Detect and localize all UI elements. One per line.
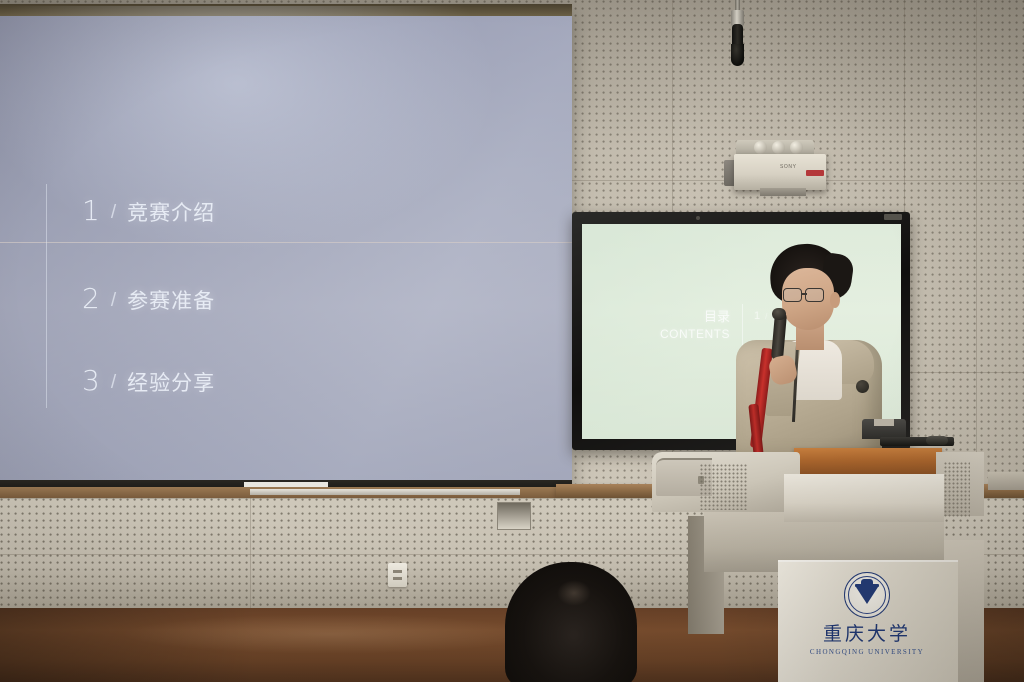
podium-speaker-grille xyxy=(700,464,748,510)
display-toc-cn: 目录 xyxy=(630,310,730,326)
jacket-sleeve-badge xyxy=(856,380,869,393)
audience-member-head xyxy=(505,562,637,682)
slide-toc-item: 1 / 竞赛介绍 xyxy=(82,194,215,227)
slide-item-label: 竞赛介绍 xyxy=(127,197,215,227)
wall-panel-seam xyxy=(976,0,977,498)
display-toc-en: CONTENTS xyxy=(630,326,730,342)
monitor-stand-notch xyxy=(874,419,894,426)
ceiling-microphone-icon xyxy=(726,0,748,68)
outlet-slot xyxy=(393,570,402,573)
university-name-en: CHONGQING UNIVERSITY xyxy=(802,648,932,656)
slide-item-number: 1 xyxy=(82,194,100,227)
slide-item-label: 参赛准备 xyxy=(127,285,215,315)
display-bezel-screw xyxy=(696,216,700,220)
slide-divider xyxy=(46,184,47,408)
slide-item-separator: / xyxy=(111,372,116,394)
projector-knob xyxy=(790,141,803,154)
slide-toc-item: 3 / 经验分享 xyxy=(82,364,215,397)
glasses-icon xyxy=(805,288,824,302)
display-top-clip xyxy=(884,214,902,220)
ledge-metal-trim xyxy=(250,489,520,495)
display-toc-heading: 目录 CONTENTS xyxy=(630,310,730,342)
emblem-triangle xyxy=(856,587,878,604)
slide-toc-heading: 录 S xyxy=(0,174,32,266)
ceiling-projector: SONY xyxy=(724,140,840,196)
outlet-slot xyxy=(393,577,402,580)
slide-toc-item: 2 / 参赛准备 xyxy=(82,282,215,315)
slide-item-separator: / xyxy=(111,202,116,224)
projector-knob xyxy=(772,141,785,154)
microphone-head xyxy=(772,308,786,320)
slide-item-number: 3 xyxy=(82,364,100,397)
podium-wood-top xyxy=(794,448,942,474)
ledge-end-post xyxy=(988,472,1024,490)
floor-reflection xyxy=(120,614,540,654)
projector-knob xyxy=(754,141,767,154)
projector-accent-stripe xyxy=(806,170,824,176)
slide-toc-cn-partial: 录 xyxy=(0,174,32,220)
slide-item-number: 2 xyxy=(82,282,100,315)
university-name-cn: 重庆大学 xyxy=(802,623,932,645)
mic-capsule xyxy=(731,44,744,66)
podium-front-face xyxy=(784,474,944,522)
slide-item-label: 经验分享 xyxy=(127,367,215,397)
slide-toc-en-partial: S xyxy=(0,220,32,266)
presenter-ear xyxy=(830,292,840,308)
lecture-hall-photo: SONY 录 S 1 / 竞赛介绍 2 / 参赛准备 3 xyxy=(0,0,1024,682)
university-emblem-icon xyxy=(844,572,890,618)
university-branding: 重庆大学 CHONGQING UNIVERSITY xyxy=(802,572,932,656)
projected-slide: 录 S 1 / 竞赛介绍 2 / 参赛准备 3 / 经验分享 xyxy=(0,6,572,490)
hair-highlight xyxy=(557,580,591,606)
emblem-cap xyxy=(861,579,873,584)
projector-mount xyxy=(760,188,806,196)
lectern-podium: 重庆大学 CHONGQING UNIVERSITY xyxy=(648,430,984,682)
glasses-bridge xyxy=(801,293,807,295)
podium-speaker-grille xyxy=(944,462,970,518)
wall-power-outlet[interactable] xyxy=(388,563,407,587)
slide-item-separator: / xyxy=(111,290,116,312)
podium-pointer-device[interactable] xyxy=(926,436,948,445)
projector-brand-label: SONY xyxy=(780,164,797,170)
wall-service-hatch xyxy=(497,502,531,530)
glasses-icon xyxy=(783,288,802,302)
projection-screen: 录 S 1 / 竞赛介绍 2 / 参赛准备 3 / 经验分享 xyxy=(0,6,572,490)
